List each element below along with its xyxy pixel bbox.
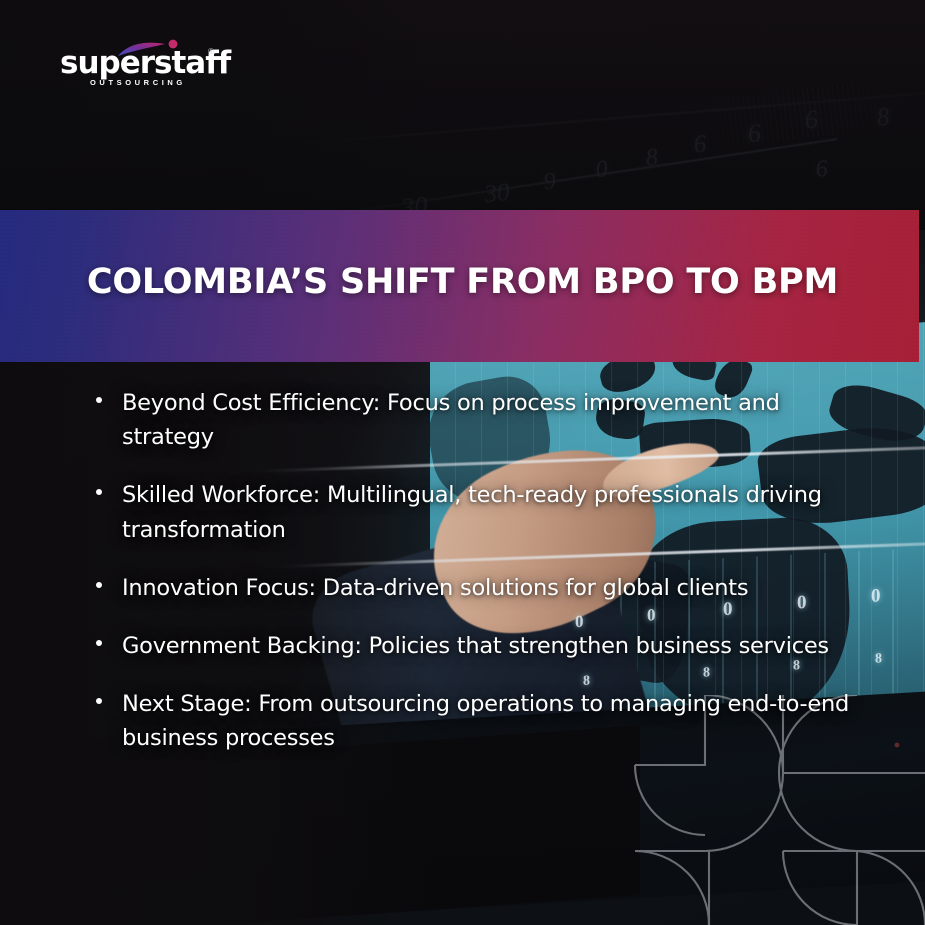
bullet-dot-icon bbox=[96, 640, 102, 646]
bullet-dot-icon bbox=[96, 397, 102, 403]
list-item: Next Stage: From outsourcing operations … bbox=[92, 687, 862, 755]
list-item-text: Skilled Workforce: Multilingual, tech-re… bbox=[122, 482, 822, 542]
bullet-dot-icon bbox=[96, 698, 102, 704]
digit-glyph: 0 bbox=[871, 585, 881, 607]
list-item-text: Next Stage: From outsourcing operations … bbox=[122, 691, 849, 751]
list-item: Government Backing: Policies that streng… bbox=[92, 629, 862, 663]
list-item: Skilled Workforce: Multilingual, tech-re… bbox=[92, 478, 862, 546]
bottom-darkening-overlay bbox=[0, 0, 925, 230]
bullet-list: Beyond Cost Efficiency: Focus on process… bbox=[92, 386, 862, 780]
list-item-text: Innovation Focus: Data-driven solutions … bbox=[122, 575, 748, 601]
bullet-dot-icon bbox=[96, 582, 102, 588]
logo-tagline: OUTSOURCING bbox=[90, 78, 186, 87]
list-item-text: Government Backing: Policies that streng… bbox=[122, 633, 829, 659]
superstaff-logo[interactable]: superstaff ® OUTSOURCING bbox=[60, 40, 230, 88]
digit-glyph: 8 bbox=[875, 651, 882, 667]
logo-wordmark: superstaff bbox=[60, 48, 230, 79]
page-title: COLOMBIA’S SHIFT FROM BPO TO BPM bbox=[0, 262, 925, 302]
list-item: Beyond Cost Efficiency: Focus on process… bbox=[92, 386, 862, 454]
registered-trademark-icon: ® bbox=[208, 47, 214, 56]
infographic-slide: 30 30 9 0 8 6 6 6 6 8 0 0 0 0 0 8 8 8 8 bbox=[0, 0, 925, 925]
list-item: Innovation Focus: Data-driven solutions … bbox=[92, 571, 862, 605]
bullet-dot-icon bbox=[96, 489, 102, 495]
list-item-text: Beyond Cost Efficiency: Focus on process… bbox=[122, 390, 780, 450]
